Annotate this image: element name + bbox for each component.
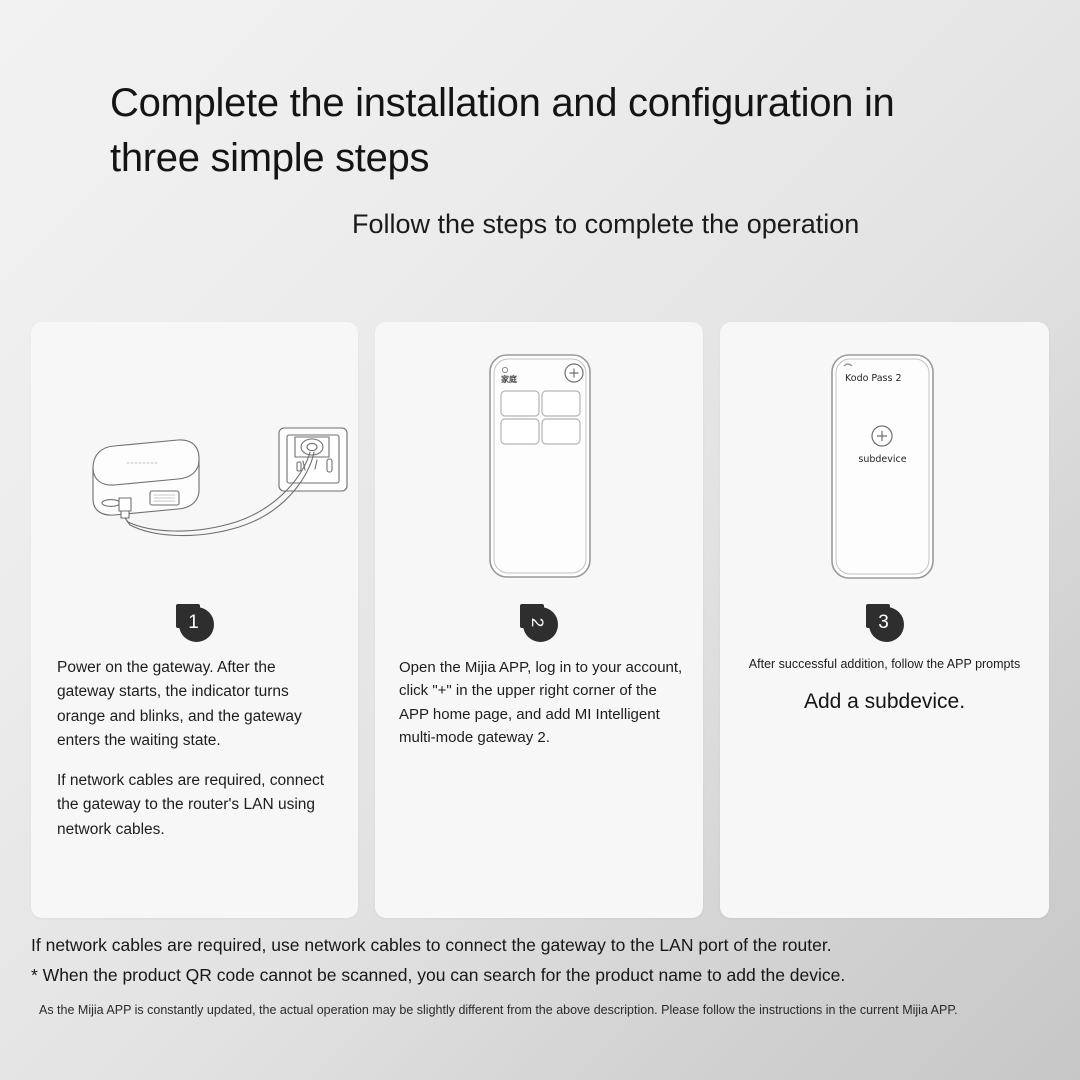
page-title: Complete the installation and configurat… — [110, 76, 980, 186]
phone-add-subdevice-illustration: Kodo Pass 2 subdevice — [720, 322, 1049, 600]
step-1-paragraph-2: If network cables are required, connect … — [57, 769, 332, 842]
footer-notes: If network cables are required, use netw… — [31, 932, 1051, 1019]
step-badge-row-3: 3 — [720, 604, 1049, 642]
step-1-text: Power on the gateway. After the gateway … — [31, 642, 358, 842]
step-card-3: Kodo Pass 2 subdevice 3 After successful… — [720, 322, 1049, 918]
step-number-1: 1 — [188, 613, 199, 632]
step-badge-2: 2 — [520, 604, 558, 642]
phone-subdevice-label: subdevice — [832, 454, 933, 465]
step-number-2: 2 — [530, 617, 547, 626]
step-card-1: 1 Power on the gateway. After the gatewa… — [31, 322, 358, 918]
phone-app-home-illustration: 家庭 — [375, 322, 703, 600]
steps-container: 1 Power on the gateway. After the gatewa… — [31, 322, 1049, 918]
phone-home-label: 家庭 — [501, 374, 517, 385]
step-3-caption-small: After successful addition, follow the AP… — [720, 656, 1049, 674]
step-badge-row-1: 1 — [31, 604, 358, 642]
footer-disclaimer: As the Mijia APP is constantly updated, … — [39, 1001, 1051, 1019]
step-card-2: 家庭 2 Open the Mijia APP, log in to your … — [375, 322, 703, 918]
step-3-caption-large: Add a subdevice. — [720, 688, 1049, 715]
gateway-outlet-illustration — [31, 322, 358, 600]
step-number-3: 3 — [878, 613, 889, 632]
step-2-paragraph-1: Open the Mijia APP, log in to your accou… — [399, 656, 683, 749]
page-subtitle: Follow the steps to complete the operati… — [352, 206, 1052, 244]
step-2-text: Open the Mijia APP, log in to your accou… — [375, 642, 703, 749]
step-1-paragraph-1: Power on the gateway. After the gateway … — [57, 656, 332, 754]
step-badge-1: 1 — [176, 604, 214, 642]
step-badge-3: 3 — [866, 604, 904, 642]
phone-screen-title: Kodo Pass 2 — [845, 373, 902, 384]
step-badge-row-2: 2 — [375, 604, 703, 642]
footer-line-2: * When the product QR code cannot be sca… — [31, 962, 1051, 988]
footer-line-1: If network cables are required, use netw… — [31, 932, 1051, 958]
